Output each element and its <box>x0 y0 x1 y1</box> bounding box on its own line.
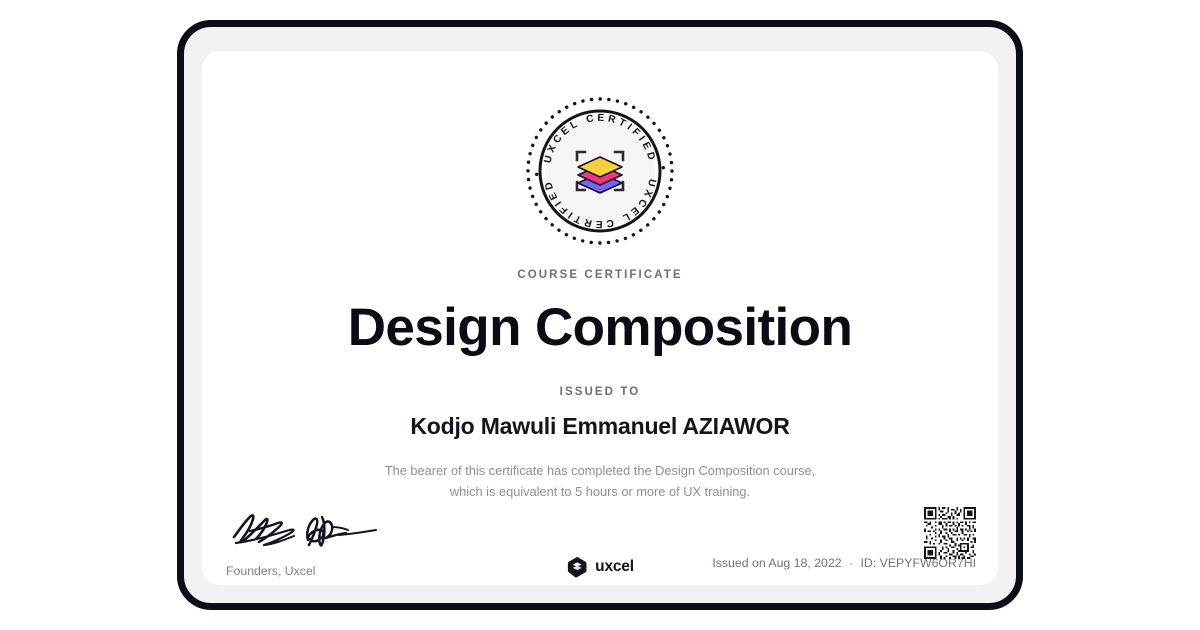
course-title: Design Composition <box>202 297 998 359</box>
certification-seal: UXCEL CERTIFIED UXCEL CERTIFIED <box>524 95 676 247</box>
signature-block: Founders, Uxcel <box>226 507 456 578</box>
signature-label: Founders, Uxcel <box>226 564 456 578</box>
certificate-frame: UXCEL CERTIFIED UXCEL CERTIFIED <box>177 20 1023 610</box>
meta-separator: · <box>845 556 857 570</box>
qr-code-icon[interactable] <box>924 507 976 559</box>
recipient-name: Kodjo Mawuli Emmanuel AZIAWOR <box>202 413 998 440</box>
course-certificate-eyebrow: COURSE CERTIFICATE <box>202 269 998 281</box>
certificate-card: UXCEL CERTIFIED UXCEL CERTIFIED <box>202 51 998 585</box>
issued-to-eyebrow: ISSUED TO <box>202 386 998 398</box>
description-line-2: which is equivalent to 5 hours or more o… <box>202 482 998 503</box>
certificate-description: The bearer of this certificate has compl… <box>202 461 998 502</box>
uxcel-brand: uxcel <box>566 556 634 578</box>
description-line-1: The bearer of this certificate has compl… <box>202 461 998 482</box>
issued-date: Issued on Aug 18, 2022 <box>712 556 841 570</box>
uxcel-hexagon-logo-icon <box>566 556 588 578</box>
uxcel-wordmark: uxcel <box>595 558 634 576</box>
handwritten-signature-icon <box>226 507 456 553</box>
